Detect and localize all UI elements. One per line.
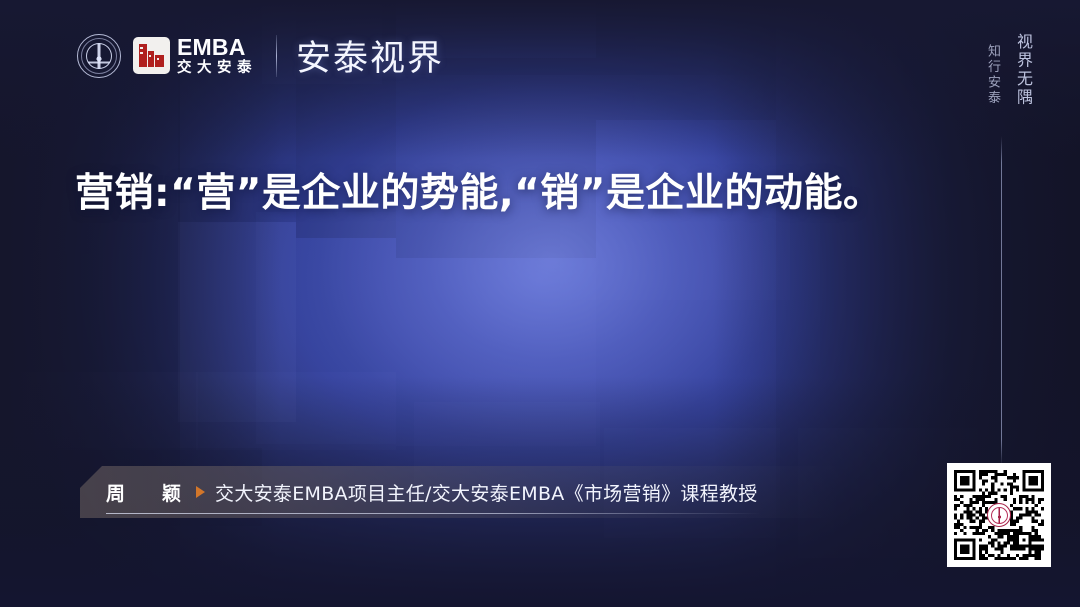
speaker-caption-bar: 周 颖 交大安泰EMBA项目主任/交大安泰EMBA《市场营销》课程教授 xyxy=(80,466,840,518)
program-name: 安泰视界 xyxy=(296,30,444,81)
emba-logo: EMBA 交大安泰 xyxy=(133,36,257,76)
qr-code[interactable] xyxy=(947,463,1051,567)
speaker-name: 周 颖 xyxy=(106,479,190,506)
vertical-slogan-secondary: 知行安泰 xyxy=(983,33,1002,106)
speaker-role: 交大安泰EMBA项目主任/交大安泰EMBA《市场营销》课程教授 xyxy=(215,479,758,506)
emba-wordmark: EMBA xyxy=(177,36,257,59)
qr-center-seal-icon xyxy=(987,503,1011,527)
logo-divider xyxy=(276,35,277,77)
vertical-slogan-primary: 视界无隅 xyxy=(1011,33,1035,107)
sjtu-seal-icon xyxy=(77,34,121,78)
emba-building-icon xyxy=(133,37,170,74)
emba-chinese-name: 交大安泰 xyxy=(177,61,257,76)
play-triangle-icon xyxy=(196,486,205,498)
presentation-slide: EMBA 交大安泰 安泰视界 营销:“营”是企业的势能,“销”是企业的动能。 视… xyxy=(0,0,1080,607)
caption-underline xyxy=(106,513,761,514)
brand-logo-bar: EMBA 交大安泰 安泰视界 xyxy=(77,30,444,81)
page-title: 营销:“营”是企业的势能,“销”是企业的动能。 xyxy=(75,162,882,218)
vertical-divider-line xyxy=(1001,136,1003,466)
vertical-slogan: 视界无隅 知行安泰 xyxy=(983,33,1035,107)
